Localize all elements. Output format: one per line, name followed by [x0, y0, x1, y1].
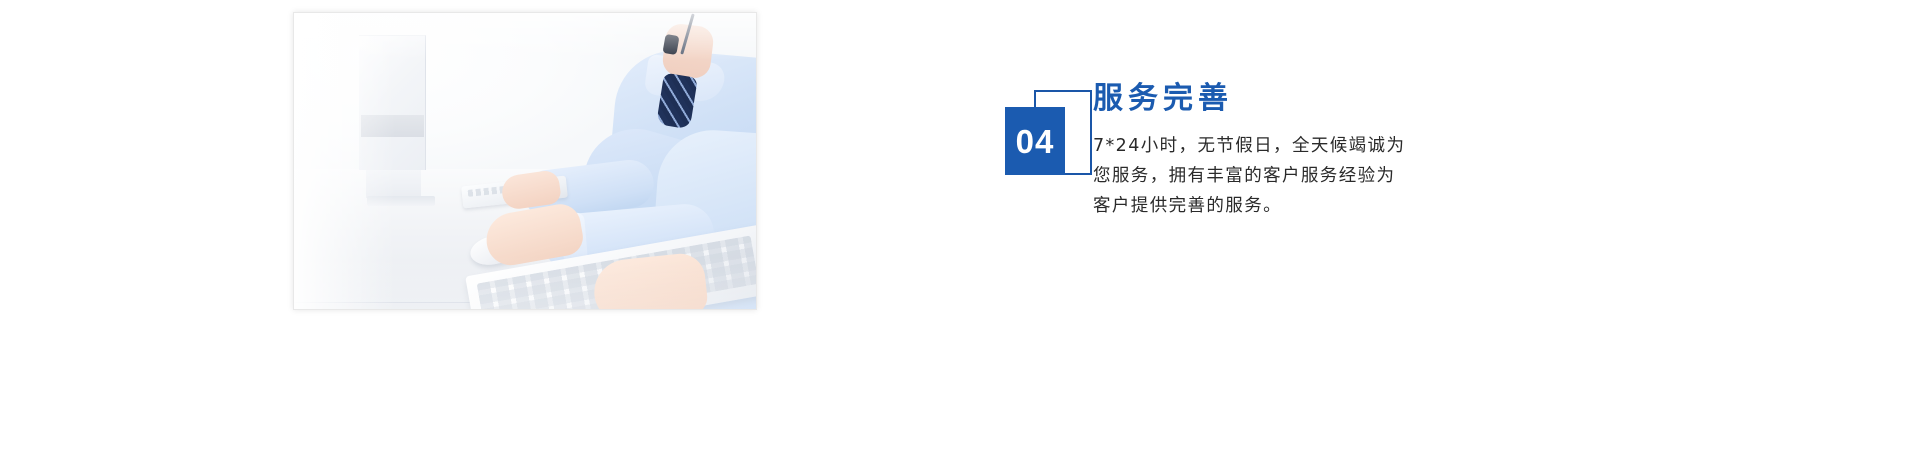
computer-monitor-icon	[359, 35, 426, 170]
description-line-1: 7*24小时，无节假日，全天候竭诚为	[1093, 131, 1503, 161]
description-line-2: 您服务，拥有丰富的客户服务经验为	[1093, 161, 1503, 191]
feature-text-column: 服务完善 7*24小时，无节假日，全天候竭诚为 您服务，拥有丰富的客户服务经验为…	[1093, 82, 1613, 221]
step-number-badge: 04	[1005, 90, 1093, 190]
badge-solid-square: 04	[1005, 107, 1065, 175]
monitor-bezel	[361, 115, 424, 137]
page-root: 04 服务完善 7*24小时，无节假日，全天候竭诚为 您服务，拥有丰富的客户服务…	[0, 0, 1920, 452]
section-title: 服务完善	[1093, 82, 1613, 115]
monitor-foot	[367, 196, 435, 206]
feature-content: 04 服务完善 7*24小时，无节假日，全天候竭诚为 您服务，拥有丰富的客户服务…	[1005, 82, 1625, 262]
monitor-stand	[366, 170, 421, 198]
feature-photo	[293, 12, 757, 310]
section-description: 7*24小时，无节假日，全天候竭诚为 您服务，拥有丰富的客户服务经验为 客户提供…	[1093, 131, 1503, 221]
description-line-3: 客户提供完善的服务。	[1093, 191, 1503, 221]
photo-scene	[294, 13, 756, 309]
step-number: 04	[1016, 125, 1055, 158]
